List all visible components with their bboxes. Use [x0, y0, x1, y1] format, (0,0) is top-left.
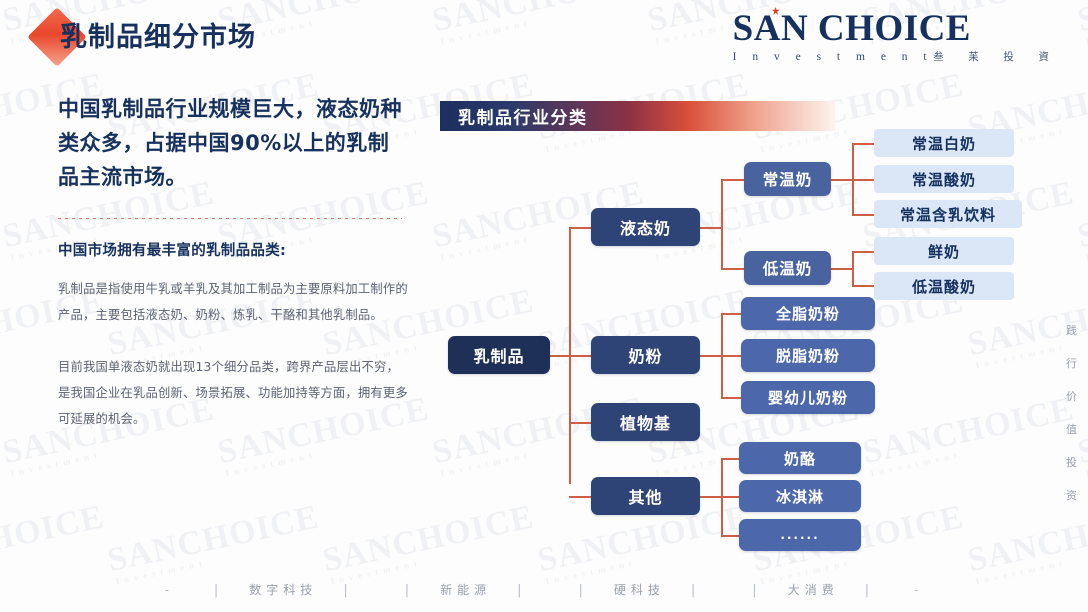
edge-to-other: [569, 496, 591, 498]
edge-other-out: [700, 496, 722, 498]
logo-subtitle: I n v e s t m e n t叁 苿 投 資: [733, 49, 1060, 64]
tree-node-liquid-milk[interactable]: 液态奶: [591, 208, 700, 246]
tree-leaf-whole-milk-powder[interactable]: 全脂奶粉: [741, 297, 875, 330]
logo-main-text: SAN CHOICE: [733, 8, 971, 49]
tree-leaf-normal-yogurt[interactable]: 常温酸奶: [874, 165, 1014, 193]
side-vertical-slogan: 践行价值投资: [1066, 322, 1078, 503]
slide-header: 乳制品细分市场 SAN CHOICE I n v e s t m e n t叁 …: [0, 0, 1088, 78]
edge-normaltemp-out: [831, 179, 853, 181]
lead-statement: 中国乳制品行业规模巨大，液态奶种类众多，占据中国90%以上的乳制品主流市场。: [58, 92, 408, 194]
tree-node-other[interactable]: 其他: [591, 477, 700, 515]
logo-sub-cn: 叁 苿 投 資: [933, 52, 1060, 63]
body-paragraph: 目前我国单液态奶就出现13个细分品类，跨界产品层出不穷，是我国企业在乳品创新、场…: [58, 354, 408, 432]
tree-leaf-infant-milk-powder[interactable]: 婴幼儿奶粉: [741, 381, 875, 414]
edge-powder-out: [700, 355, 722, 357]
brand-logo: SAN CHOICE I n v e s t m e n t叁 苿 投 資: [733, 10, 1060, 64]
footer-separator: |: [517, 583, 526, 598]
edge-leaf: [852, 143, 874, 145]
footer-item-1[interactable]: 数字科技: [249, 583, 317, 597]
edge-leaf: [721, 355, 741, 357]
page-title: 乳制品细分市场: [60, 15, 256, 54]
watermark-text: SANCHOICEInvestment: [105, 501, 324, 587]
tree-leaf-cheese[interactable]: 奶酪: [739, 442, 861, 474]
edge-root-out: [550, 355, 570, 357]
side-vertical-char: 投: [1066, 454, 1078, 470]
footer-dash-right: -: [914, 583, 923, 597]
footer-item-4[interactable]: 大消费: [788, 583, 839, 597]
tree-node-normal-temp-milk[interactable]: 常温奶: [744, 162, 831, 196]
footer-dash-left: -: [165, 583, 174, 597]
edge-to-liquid: [569, 227, 591, 229]
footer-separator: |: [691, 583, 700, 598]
sub-heading: 中国市场拥有最丰富的乳制品品类:: [58, 239, 408, 260]
classification-tree: 乳制品 液态奶 奶粉 植物基 其他 常温奶 低温奶 常温白奶 常温酸奶 常温含乳…: [430, 120, 1078, 570]
watermark-text: SANCHOICEInvestment: [0, 393, 4, 479]
footer-separator: |: [343, 583, 352, 598]
footer-item-3[interactable]: 硬科技: [614, 583, 665, 597]
footer-separator: |: [405, 583, 414, 598]
tree-node-milk-powder[interactable]: 奶粉: [591, 336, 700, 374]
footer-separator: |: [752, 583, 761, 598]
body-paragraph: 乳制品是指使用牛乳或羊乳及其加工制品为主要原料加工制作的产品，主要包括液态奶、奶…: [58, 276, 408, 328]
edge-leaf: [852, 251, 874, 253]
tree-node-plant-based[interactable]: 植物基: [591, 403, 700, 441]
slide-footer: -|数字科技||新能源||硬科技||大消费|-: [0, 576, 1088, 602]
edge-to-normaltemp: [721, 179, 744, 181]
footer-separator: |: [579, 583, 588, 598]
edge-leaf: [721, 496, 739, 498]
footer-item-2[interactable]: 新能源: [440, 583, 491, 597]
left-text-panel: 中国乳制品行业规模巨大，液态奶种类众多，占据中国90%以上的乳制品主流市场。 中…: [58, 92, 408, 432]
edge-leaf: [721, 397, 741, 399]
edge-leaf: [852, 285, 874, 287]
logo-wordmark: SAN CHOICE: [733, 10, 1060, 47]
footer-items: -|数字科技||新能源||硬科技||大消费|-: [151, 581, 938, 598]
edge-liquid-out: [700, 227, 722, 229]
tree-leaf-ellipsis[interactable]: ......: [739, 519, 861, 551]
side-vertical-char: 值: [1066, 421, 1078, 437]
dashed-divider: [58, 218, 402, 219]
tree-leaf-low-temp-yogurt[interactable]: 低温酸奶: [874, 272, 1014, 300]
tree-leaf-fresh-milk[interactable]: 鲜奶: [874, 237, 1014, 265]
tree-leaf-normal-milk-drink[interactable]: 常温含乳饮料: [874, 200, 1022, 228]
tree-leaf-ice-cream[interactable]: 冰淇淋: [739, 480, 861, 512]
footer-separator: |: [214, 583, 223, 598]
edge-liquid-spine: [721, 179, 723, 269]
edge-lowtemp-out: [831, 268, 853, 270]
edge-lowtemp-spine: [852, 251, 854, 286]
side-vertical-char: 行: [1066, 355, 1078, 371]
edge-to-powder: [569, 355, 591, 357]
edge-leaf: [721, 535, 739, 537]
edge-leaf: [721, 313, 741, 315]
logo-sub-en: I n v e s t m e n t: [733, 51, 933, 63]
slide-root: SANCHOICEInvestmentSANCHOICEInvestmentSA…: [0, 0, 1088, 612]
footer-separator: |: [865, 583, 874, 598]
tree-leaf-normal-white-milk[interactable]: 常温白奶: [874, 129, 1014, 157]
side-vertical-char: 践: [1066, 322, 1078, 338]
edge-leaf: [721, 458, 739, 460]
watermark-text: SANCHOICEInvestment: [0, 501, 109, 587]
edge-to-plant: [569, 422, 591, 424]
tree-node-root[interactable]: 乳制品: [448, 336, 550, 374]
tree-leaf-skim-milk-powder[interactable]: 脱脂奶粉: [741, 339, 875, 372]
edge-to-lowtemp: [721, 268, 744, 270]
tree-node-low-temp-milk[interactable]: 低温奶: [744, 251, 831, 285]
edge-leaf: [852, 179, 874, 181]
edge-leaf: [852, 214, 874, 216]
side-vertical-char: 价: [1066, 388, 1078, 404]
side-vertical-char: 资: [1066, 487, 1078, 503]
watermark-text: SANCHOICEInvestment: [0, 177, 4, 263]
